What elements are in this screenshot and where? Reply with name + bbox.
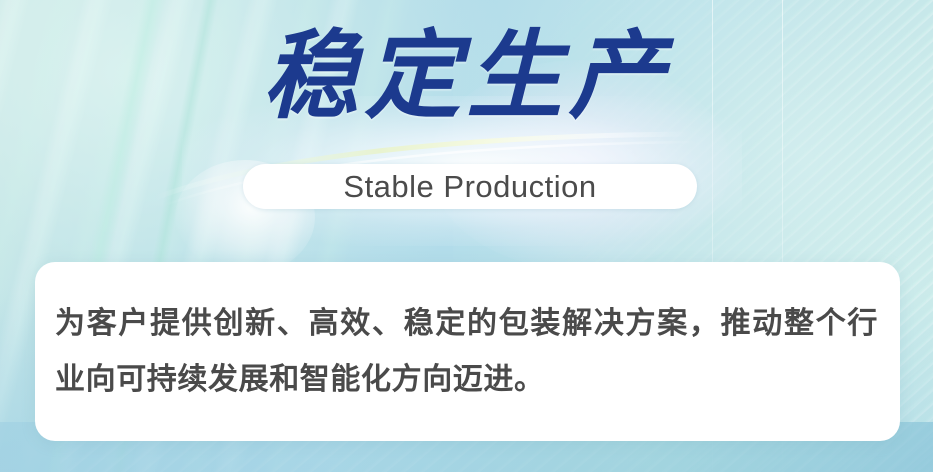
description-text: 为客户提供创新、高效、稳定的包装解决方案，推动整个行业向可持续发展和智能化方向迈… [35, 296, 900, 408]
subtitle-pill: Stable Production [243, 164, 697, 209]
page-title: 稳定生产 [0, 20, 933, 132]
stable-production-banner: 稳定生产 Stable Production 为客户提供创新、高效、稳定的包装解… [0, 0, 933, 472]
description-card: 为客户提供创新、高效、稳定的包装解决方案，推动整个行业向可持续发展和智能化方向迈… [35, 262, 900, 441]
subtitle-text: Stable Production [343, 171, 596, 202]
